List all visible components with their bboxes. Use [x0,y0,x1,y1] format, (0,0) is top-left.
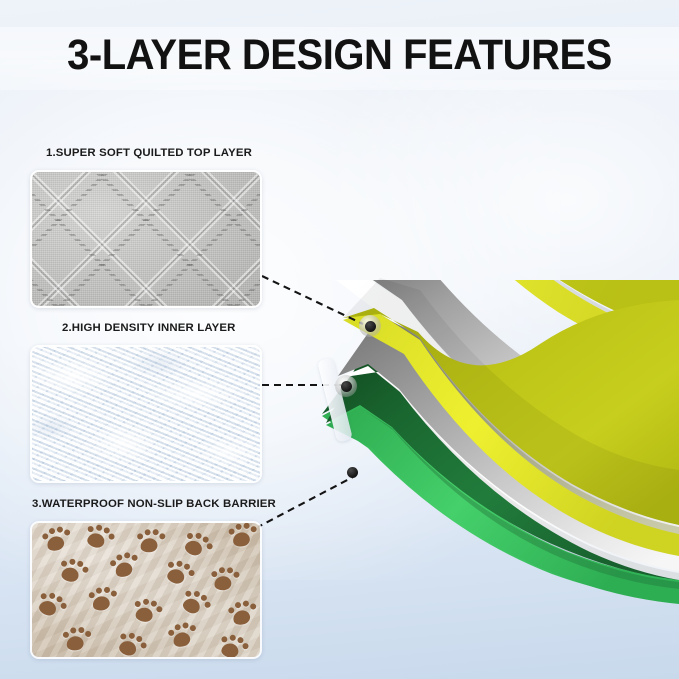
paw-toe [87,526,94,533]
paw-toe [159,533,166,540]
paw-toe [242,600,250,608]
paw-toe [233,571,240,578]
paw-toe [96,524,103,531]
paw-toe [184,590,192,598]
paw-toe [176,560,183,567]
feature-label-1: 1.SUPER SOFT QUILTED TOP LAYER [46,147,252,159]
quilt-grain [32,172,260,306]
paw-pad [118,639,138,657]
paw-toe [88,592,95,599]
infographic-canvas: 3-LAYER DESIGN FEATURES [0,0,679,679]
paw-toe [69,558,76,565]
paw-toe [120,633,127,640]
paw-pad [91,595,111,612]
paw-toe [151,600,158,607]
paw-print [225,597,262,631]
paw-toe [235,523,242,530]
feature-label-2: 2.HIGH DENSITY INNER LAYER [62,322,236,334]
paw-pad [181,596,202,615]
paw-toe [195,532,203,540]
paw-toe [204,601,212,609]
paw-toe [182,622,190,630]
paw-toe [134,601,141,608]
paw-print-field [32,523,260,657]
paw-pad [231,531,251,549]
paw-toe [144,529,151,536]
paw-toe [186,532,194,540]
paw-toe [193,590,201,598]
paw-pad [135,607,153,623]
paw-toe [189,624,197,632]
paw-print [216,633,250,659]
paw-toe [61,560,68,567]
fiber-highlights [32,347,260,481]
paw-toe [206,543,214,551]
paw-toe [62,631,69,638]
paw-toe [140,642,147,649]
paw-toe [48,592,56,600]
paw-toe [227,567,234,574]
paw-toe [63,529,71,537]
callout-marker-inner-layer[interactable] [335,375,357,397]
paw-pad [37,599,57,618]
paw-pad [65,635,84,652]
paw-toe [188,569,195,576]
paw-toe [211,571,218,578]
paw-toe [108,533,115,540]
paw-toe [221,636,228,643]
paw-toe [56,526,64,534]
paw-toe [78,627,85,634]
paw-print [39,523,76,557]
feature-label-3: 3.WATERPROOF NON-SLIP BACK BARRIER [32,498,276,510]
quilt-texture [32,172,260,306]
paw-toe [229,634,236,641]
paw-pad [220,642,239,659]
paw-print [209,566,242,595]
paw-toe [167,561,174,568]
paw-toe [123,552,131,560]
paw-toe [85,631,92,638]
paw-print [161,558,196,590]
callout-marker-top-layer[interactable] [359,315,381,337]
paw-toe [128,632,135,639]
paw-toe [137,533,144,540]
fiber-texture [32,347,260,481]
paw-toe [243,522,250,529]
paw-print [134,527,167,557]
paw-print [60,625,94,656]
paw-pad [86,532,106,549]
paw-toe [249,603,257,611]
paw-print [86,584,121,616]
paw-texture [32,523,260,657]
paw-toe [110,590,117,597]
paw-print [225,521,260,552]
paw-pad [61,567,80,583]
paw-toe [70,627,77,634]
paw-toe [48,527,56,535]
paw-print [176,586,214,621]
waterproof-back-barrier-swatch [30,521,262,659]
quilted-top-layer-swatch [30,170,262,308]
paw-print [82,522,117,554]
paw-toe [250,526,257,533]
page-title: 3-LAYER DESIGN FEATURES [24,31,655,80]
high-density-inner-layer-swatch [30,345,262,483]
paw-toe [82,566,89,573]
paw-pad [140,537,159,553]
paw-toe [152,529,159,536]
paw-toe [95,587,102,594]
paw-print [33,589,70,623]
paw-pad [183,538,204,557]
paw-print [178,529,215,564]
paw-toe [234,601,242,609]
callout-marker-back-barrier[interactable] [347,467,358,478]
paw-toe [219,567,226,574]
paw-print [164,619,201,654]
paw-pad [166,567,186,585]
paw-toe [115,554,123,562]
paw-toe [103,586,110,593]
paw-print [113,629,149,659]
paw-toe [143,599,150,606]
three-layer-wave-diagram [300,280,679,610]
paw-toe [60,602,68,610]
paw-toe [174,623,182,631]
paw-toe [228,528,235,535]
paw-toe [40,592,48,600]
paw-toe [242,643,249,650]
paw-print [56,557,89,587]
paw-pad [214,575,232,591]
paw-toe [156,606,163,613]
paw-print [131,598,164,627]
